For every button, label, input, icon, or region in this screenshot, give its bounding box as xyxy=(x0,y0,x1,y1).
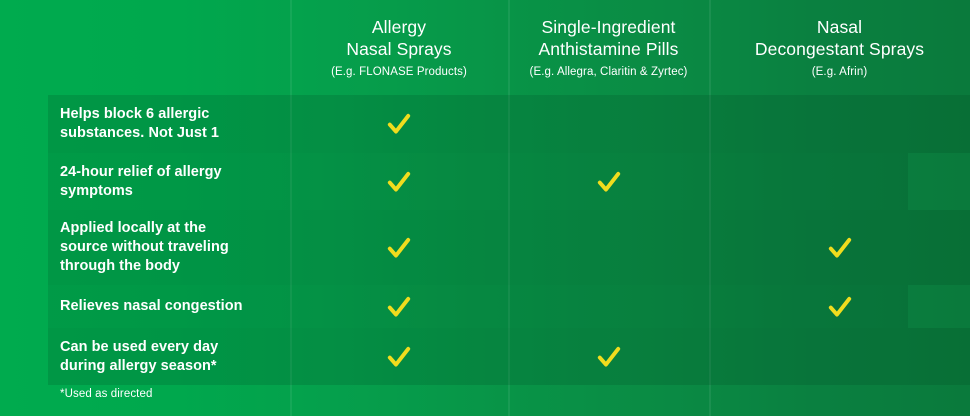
allergy-comparison-table: Allergy Nasal Sprays (E.g. FLONASE Produ… xyxy=(0,0,970,416)
table-row: Relieves nasal congestion xyxy=(0,285,970,328)
table-header: Allergy Nasal Sprays (E.g. FLONASE Produ… xyxy=(0,0,970,95)
column-header-title: Allergy Nasal Sprays xyxy=(346,16,451,61)
cell-allergy-nasal-sprays xyxy=(290,285,508,328)
cell-nasal-decongestant-sprays xyxy=(709,153,970,210)
cell-antihistamine-pills xyxy=(508,153,709,210)
comparison-rows: Helps block 6 allergic substances. Not J… xyxy=(0,95,970,385)
table-row: Can be used every day during allergy sea… xyxy=(0,328,970,385)
cell-nasal-decongestant-sprays xyxy=(709,210,970,285)
row-label: Can be used every day during allergy sea… xyxy=(60,328,285,385)
cell-antihistamine-pills xyxy=(508,210,709,285)
table-row: Helps block 6 allergic substances. Not J… xyxy=(0,95,970,153)
check-mark-icon xyxy=(827,235,853,261)
column-header-subtitle: (E.g. Afrin) xyxy=(812,65,868,79)
check-mark-icon xyxy=(386,294,412,320)
cell-antihistamine-pills xyxy=(508,285,709,328)
column-header-nasal-decongestant-sprays: Nasal Decongestant Sprays (E.g. Afrin) xyxy=(709,0,970,95)
row-label: Relieves nasal congestion xyxy=(60,285,285,328)
row-label: Applied locally at the source without tr… xyxy=(60,210,285,285)
cell-allergy-nasal-sprays xyxy=(290,210,508,285)
cell-allergy-nasal-sprays xyxy=(290,153,508,210)
check-mark-icon xyxy=(827,294,853,320)
cell-nasal-decongestant-sprays xyxy=(709,95,970,153)
check-mark-icon xyxy=(386,111,412,137)
cell-allergy-nasal-sprays xyxy=(290,328,508,385)
cell-antihistamine-pills xyxy=(508,95,709,153)
column-header-antihistamine-pills: Single-Ingredient Anthistamine Pills (E.… xyxy=(508,0,709,95)
cell-allergy-nasal-sprays xyxy=(290,95,508,153)
column-header-subtitle: (E.g. Allegra, Claritin & Zyrtec) xyxy=(530,65,688,79)
cell-nasal-decongestant-sprays xyxy=(709,285,970,328)
row-label: Helps block 6 allergic substances. Not J… xyxy=(60,95,285,153)
column-header-subtitle: (E.g. FLONASE Products) xyxy=(331,65,467,79)
column-header-title: Nasal Decongestant Sprays xyxy=(755,16,924,61)
check-mark-icon xyxy=(596,169,622,195)
column-header-title: Single-Ingredient Anthistamine Pills xyxy=(539,16,679,61)
row-label: 24-hour relief of allergy symptoms xyxy=(60,153,285,210)
check-mark-icon xyxy=(386,169,412,195)
table-row: 24-hour relief of allergy symptoms xyxy=(0,153,970,210)
table-row: Applied locally at the source without tr… xyxy=(0,210,970,285)
cell-nasal-decongestant-sprays xyxy=(709,328,970,385)
column-header-allergy-nasal-sprays: Allergy Nasal Sprays (E.g. FLONASE Produ… xyxy=(290,0,508,95)
cell-antihistamine-pills xyxy=(508,328,709,385)
check-mark-icon xyxy=(386,235,412,261)
check-mark-icon xyxy=(386,344,412,370)
footnote: *Used as directed xyxy=(60,388,152,400)
check-mark-icon xyxy=(596,344,622,370)
